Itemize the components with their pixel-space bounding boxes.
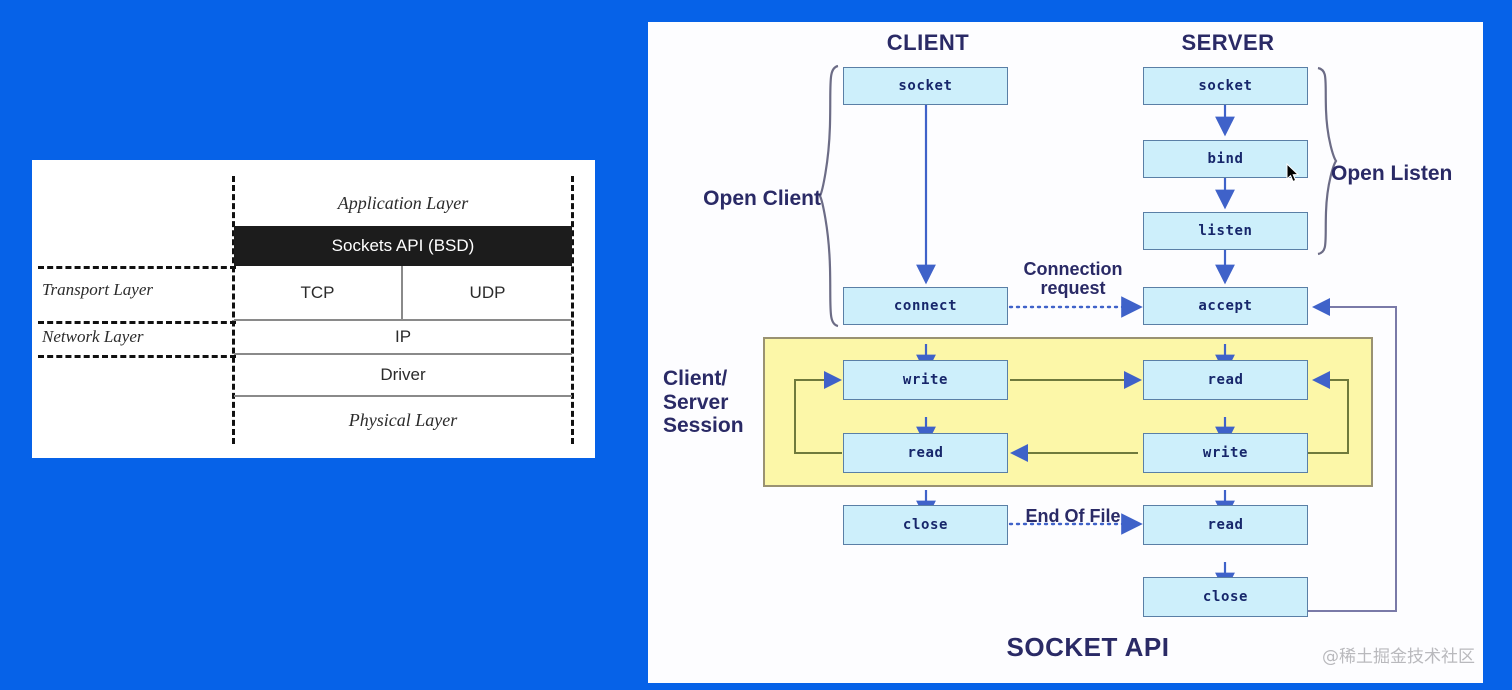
node-client-socket[interactable]: socket [843,67,1008,105]
network-divider-bottom [38,355,236,358]
socket-api-footer-title: SOCKET API [948,632,1228,663]
node-server-read[interactable]: read [1143,360,1308,400]
udp-cell: UDP [403,266,572,319]
connection-request-label: Connection request [993,260,1153,299]
watermark-label: @稀土掘金技术社区 [1322,642,1475,667]
node-client-read[interactable]: read [843,433,1008,473]
node-server-listen[interactable]: listen [1143,212,1308,250]
application-layer-band: Application Layer [234,180,572,226]
socket-api-panel: CLIENT SERVER socket connect write read … [648,22,1483,683]
node-server-write[interactable]: write [1143,433,1308,473]
server-column-title: SERVER [1138,30,1318,56]
end-of-file-label: End Of File [1003,507,1143,526]
ip-band: IP [234,321,572,355]
driver-band: Driver [234,355,572,397]
socket-api-canvas: CLIENT SERVER socket connect write read … [648,22,1483,683]
sockets-api-band: Sockets API (BSD) [234,226,572,266]
open-listen-label: Open Listen [1331,162,1483,186]
transport-divider-bottom [38,321,236,324]
node-server-accept[interactable]: accept [1143,287,1308,325]
client-server-session-label: Client/ Server Session [663,367,773,438]
transport-layer-label: Transport Layer [42,280,232,300]
node-server-bind[interactable]: bind [1143,140,1308,178]
open-client-label: Open Client [656,187,821,211]
node-client-write[interactable]: write [843,360,1008,400]
node-client-connect[interactable]: connect [843,287,1008,325]
node-server-close[interactable]: close [1143,577,1308,617]
network-layer-label: Network Layer [42,327,232,347]
node-server-socket[interactable]: socket [1143,67,1308,105]
network-stack-wrap: Application Layer Sockets API (BSD) Tran… [32,160,595,458]
node-server-read-eof[interactable]: read [1143,505,1308,545]
node-client-close[interactable]: close [843,505,1008,545]
transport-layer-band: TCP UDP [234,266,572,321]
physical-layer-band: Physical Layer [234,397,572,443]
tcp-cell: TCP [234,266,403,319]
open-listen-brace [1314,66,1338,256]
transport-divider-top [38,266,236,269]
open-client-brace [818,64,842,329]
client-column-title: CLIENT [838,30,1018,56]
network-stack-panel: Application Layer Sockets API (BSD) Tran… [32,160,595,458]
flow-connector-wires [648,22,1483,683]
